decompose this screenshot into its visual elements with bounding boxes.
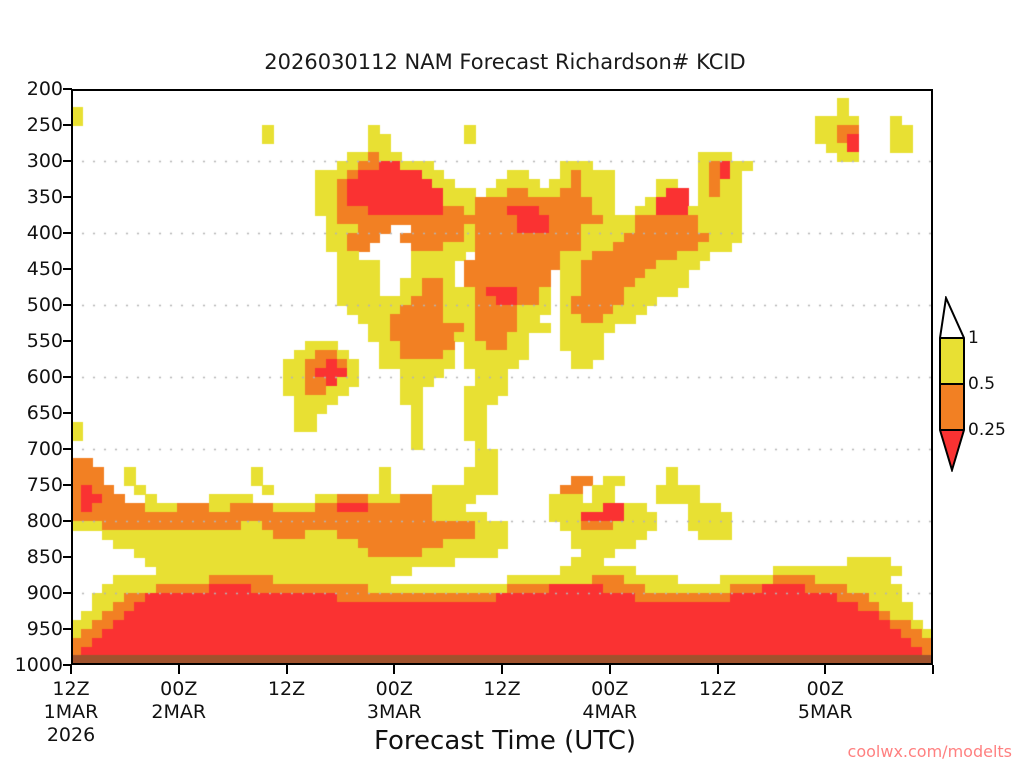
site-watermark: coolwx.com/modelts xyxy=(0,742,1012,761)
colorbar-label-0.25: 0.25 xyxy=(968,420,1006,440)
x-tick-line-0: 00Z xyxy=(582,678,637,701)
x-tick-label-6: 12Z xyxy=(699,678,736,701)
x-tick-line-1: 1MAR xyxy=(44,701,99,724)
x-axis-labels: 12Z1MAR202600Z2MAR12Z00Z3MAR12Z00Z4MAR12… xyxy=(0,0,1024,768)
x-tick-line-0: 12Z xyxy=(699,678,736,701)
x-tick-label-4: 12Z xyxy=(483,678,520,701)
x-tick-mark-1 xyxy=(178,665,180,674)
x-tick-line-1: 2MAR xyxy=(151,701,206,724)
colorbar-label-0.5: 0.5 xyxy=(968,374,995,394)
x-tick-line-0: 00Z xyxy=(798,678,853,701)
x-tick-mark-8 xyxy=(932,665,934,674)
x-tick-line-1: 4MAR xyxy=(582,701,637,724)
colorbar-arrow-bottom xyxy=(940,430,964,470)
x-tick-mark-2 xyxy=(286,665,288,674)
x-tick-label-5: 00Z4MAR xyxy=(582,678,637,724)
x-tick-line-0: 12Z xyxy=(44,678,99,701)
x-tick-line-1: 3MAR xyxy=(367,701,422,724)
x-tick-mark-7 xyxy=(824,665,826,674)
x-tick-line-0: 12Z xyxy=(483,678,520,701)
x-tick-mark-3 xyxy=(393,665,395,674)
x-tick-label-2: 12Z xyxy=(268,678,305,701)
x-tick-mark-4 xyxy=(501,665,503,674)
x-tick-mark-6 xyxy=(717,665,719,674)
x-tick-line-0: 00Z xyxy=(151,678,206,701)
x-tick-label-7: 00Z5MAR xyxy=(798,678,853,724)
x-tick-label-1: 00Z2MAR xyxy=(151,678,206,724)
x-tick-line-0: 12Z xyxy=(268,678,305,701)
colorbar-band-orange xyxy=(940,384,964,430)
colorbar-band-yellow xyxy=(940,338,964,384)
colorbar-label-1: 1 xyxy=(968,328,979,348)
chart-root: 2026030112 NAM Forecast Richardson# KCID… xyxy=(0,0,1024,768)
colorbar-legend: 1 0.5 0.25 xyxy=(938,296,982,472)
x-tick-mark-0 xyxy=(70,665,72,674)
x-tick-line-1: 5MAR xyxy=(798,701,853,724)
x-tick-label-3: 00Z3MAR xyxy=(367,678,422,724)
x-tick-mark-5 xyxy=(609,665,611,674)
x-tick-line-0: 00Z xyxy=(367,678,422,701)
